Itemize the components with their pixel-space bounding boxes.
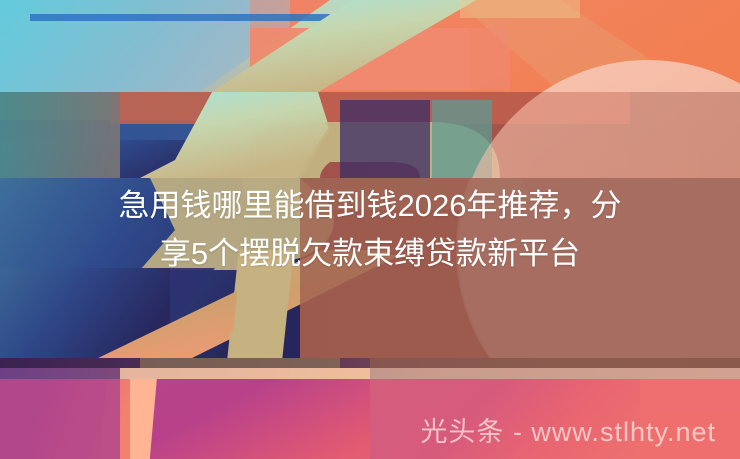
band-thin-purple: [0, 368, 740, 379]
page-title: 急用钱哪里能借到钱2026年推荐，分 享5个摆脱欠款束缚贷款新平台: [0, 182, 740, 278]
watermark-label: 光头条 - www.stlhty.net: [420, 410, 716, 449]
band-thin-dark: [0, 358, 740, 368]
poster-canvas: 急用钱哪里能借到钱2026年推荐，分 享5个摆脱欠款束缚贷款新平台 光头条 - …: [0, 0, 740, 459]
